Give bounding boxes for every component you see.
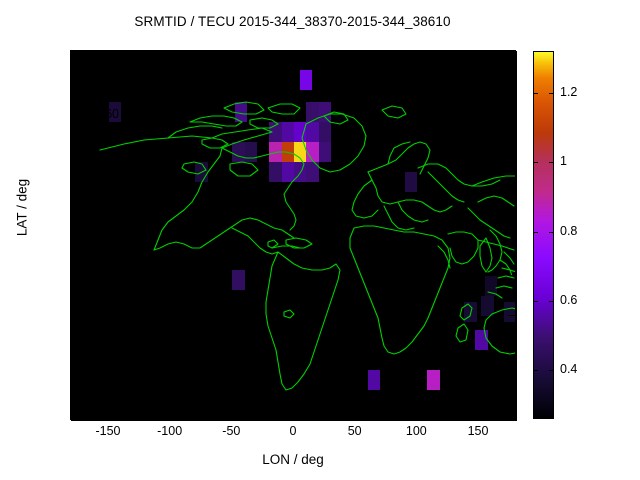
x-tick-label: 100 bbox=[386, 424, 446, 438]
colorbar-tick-label: 0.4 bbox=[560, 362, 577, 376]
y-tick-label: -20 bbox=[59, 267, 119, 281]
colorbar-tick-mark bbox=[549, 232, 554, 233]
x-tick-mark bbox=[108, 51, 109, 57]
y-tick-label: 40 bbox=[59, 147, 119, 161]
x-tick-mark bbox=[478, 51, 479, 57]
colorbar bbox=[533, 51, 554, 419]
x-tick-label: -150 bbox=[78, 424, 138, 438]
colorbar-tick-mark bbox=[533, 370, 538, 371]
x-tick-mark bbox=[170, 413, 171, 419]
x-tick-mark bbox=[231, 413, 232, 419]
y-tick-mark bbox=[509, 235, 515, 236]
x-tick-mark bbox=[293, 413, 294, 419]
colorbar-tick-label: 1 bbox=[560, 154, 567, 168]
x-axis-label: LON / deg bbox=[71, 452, 515, 467]
x-tick-label: -50 bbox=[201, 424, 261, 438]
y-tick-mark bbox=[509, 195, 515, 196]
y-tick-label: -80 bbox=[59, 387, 119, 401]
x-tick-mark bbox=[416, 51, 417, 57]
y-axis-label: LAT / deg bbox=[15, 138, 30, 278]
colorbar-tick-mark bbox=[533, 93, 538, 94]
x-tick-label: 0 bbox=[263, 424, 323, 438]
x-tick-label: 150 bbox=[448, 424, 508, 438]
colorbar-tick-mark bbox=[533, 301, 538, 302]
colorbar-tick-mark bbox=[549, 162, 554, 163]
colorbar-tick-mark bbox=[533, 162, 538, 163]
x-tick-mark bbox=[231, 51, 232, 57]
colorbar-gradient bbox=[534, 52, 553, 418]
y-tick-label: 80 bbox=[59, 67, 119, 81]
y-tick-mark bbox=[509, 395, 515, 396]
colorbar-tick-label: 0.8 bbox=[560, 224, 577, 238]
x-tick-mark bbox=[355, 413, 356, 419]
y-tick-label: -40 bbox=[59, 307, 119, 321]
y-tick-label: -60 bbox=[59, 347, 119, 361]
x-tick-label: -100 bbox=[140, 424, 200, 438]
y-tick-label: 20 bbox=[59, 187, 119, 201]
colorbar-tick-label: 0.6 bbox=[560, 293, 577, 307]
y-tick-mark bbox=[509, 75, 515, 76]
colorbar-tick-mark bbox=[549, 93, 554, 94]
y-tick-mark bbox=[509, 315, 515, 316]
map-plot-area bbox=[71, 51, 517, 421]
colorbar-tick-mark bbox=[549, 370, 554, 371]
y-tick-mark bbox=[509, 155, 515, 156]
y-tick-label: 0 bbox=[59, 227, 119, 241]
chart-title: SRMTID / TECU 2015-344_38370-2015-344_38… bbox=[0, 14, 585, 29]
x-tick-label: 50 bbox=[325, 424, 385, 438]
x-tick-mark bbox=[416, 413, 417, 419]
y-tick-mark bbox=[509, 355, 515, 356]
figure-canvas: SRMTID / TECU 2015-344_38370-2015-344_38… bbox=[0, 0, 640, 480]
colorbar-tick-mark bbox=[549, 301, 554, 302]
y-tick-mark bbox=[509, 275, 515, 276]
colorbar-tick-label: 1.2 bbox=[560, 85, 577, 99]
x-tick-mark bbox=[293, 51, 294, 57]
colorbar-tick-mark bbox=[533, 232, 538, 233]
y-tick-label: 60 bbox=[59, 107, 119, 121]
x-tick-mark bbox=[108, 413, 109, 419]
x-tick-mark bbox=[170, 51, 171, 57]
coastline-layer bbox=[72, 52, 516, 420]
x-tick-mark bbox=[355, 51, 356, 57]
y-tick-mark bbox=[509, 115, 515, 116]
x-tick-mark bbox=[478, 413, 479, 419]
